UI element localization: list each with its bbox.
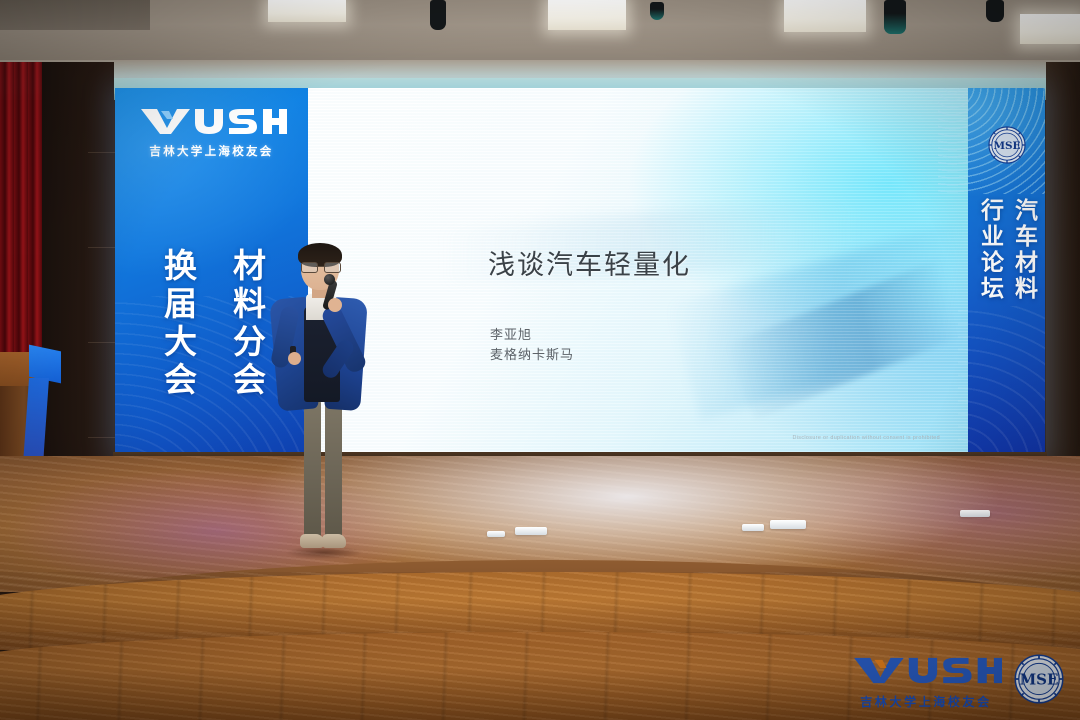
microphone-head <box>324 274 335 285</box>
left-wall-panels <box>42 62 114 492</box>
stage-floor-object <box>742 524 764 531</box>
left-banner-column-1: 换届大会 <box>158 248 197 438</box>
speaker-leg-left <box>304 398 321 538</box>
stage-floor-object <box>770 520 806 529</box>
ceiling-light <box>268 0 346 22</box>
speaker-shadow <box>286 546 362 559</box>
ceiling <box>0 0 1080 62</box>
speaker-shoe-left <box>300 534 324 548</box>
jush-wordmark-icon <box>137 106 287 136</box>
mse-seal-text: MSE <box>993 140 1020 152</box>
speaker-hand-right <box>328 298 342 312</box>
right-banner-column-2: 汽车材料 <box>1010 198 1038 388</box>
right-wall-panel <box>1046 62 1080 482</box>
ceiling-light <box>1020 14 1080 44</box>
watermark-subtitle: 吉林大学上海校友会 <box>850 693 1002 710</box>
spotlight-fixture <box>884 0 906 34</box>
jush-logo-subtitle: 吉林大学上海校友会 <box>115 143 308 159</box>
stage-floor-object <box>960 510 990 517</box>
presenter-org: 麦格纳卡斯马 <box>490 346 574 366</box>
speaker-shoe-right <box>322 534 346 548</box>
speaker-legs <box>304 398 342 538</box>
left-banner-column-2: 材料分会 <box>227 248 266 438</box>
right-banner-column-1: 行业论坛 <box>975 198 1003 388</box>
slide-title: 浅谈汽车轻量化 <box>488 243 691 282</box>
ceiling-light <box>548 0 626 30</box>
spotlight-fixture <box>650 2 664 20</box>
right-banner-vertical-text: 行业论坛 汽车材料 <box>968 198 1045 388</box>
slide-disclaimer: Disclosure or duplication without consen… <box>793 435 941 441</box>
speaker-figure <box>268 246 374 564</box>
speaker-glasses-icon <box>301 262 339 271</box>
presenter-name: 李亚旭 <box>490 326 574 346</box>
stage-presentation-photo: 吉林大学上海校友会 换届大会 材料分会 浅谈汽车轻量化 李亚旭 麦格纳卡斯马 D… <box>0 0 1080 720</box>
screen-right-banner: MSE 行业论坛 汽车材料 <box>968 88 1045 456</box>
ceiling-dark-section <box>0 0 150 30</box>
watermark-mse-seal-icon: MSE <box>1014 654 1064 709</box>
speaker-leg-right <box>325 398 342 538</box>
slide-presenter-block: 李亚旭 麦格纳卡斯马 <box>490 326 574 366</box>
mse-seal-icon: MSE <box>988 126 1026 169</box>
stage-floor-object <box>515 527 547 535</box>
jush-logo: 吉林大学上海校友会 <box>115 106 308 159</box>
photo-watermark: 吉林大学上海校友会 MSE <box>850 653 1064 710</box>
presentation-slide: 浅谈汽车轻量化 李亚旭 麦格纳卡斯马 Disclosure or duplica… <box>308 88 968 456</box>
stage-floor-object <box>487 531 505 537</box>
spotlight-fixture <box>430 0 446 30</box>
speaker-hand-left <box>288 352 301 365</box>
ceiling-light <box>784 0 866 32</box>
watermark-jush-logo: 吉林大学上海校友会 <box>850 653 1002 710</box>
watermark-mse-text: MSE <box>1020 671 1059 689</box>
led-display-screen: 吉林大学上海校友会 换届大会 材料分会 浅谈汽车轻量化 李亚旭 麦格纳卡斯马 D… <box>115 88 1045 456</box>
watermark-jush-wordmark-icon <box>850 653 1002 692</box>
spotlight-fixture <box>986 0 1004 22</box>
